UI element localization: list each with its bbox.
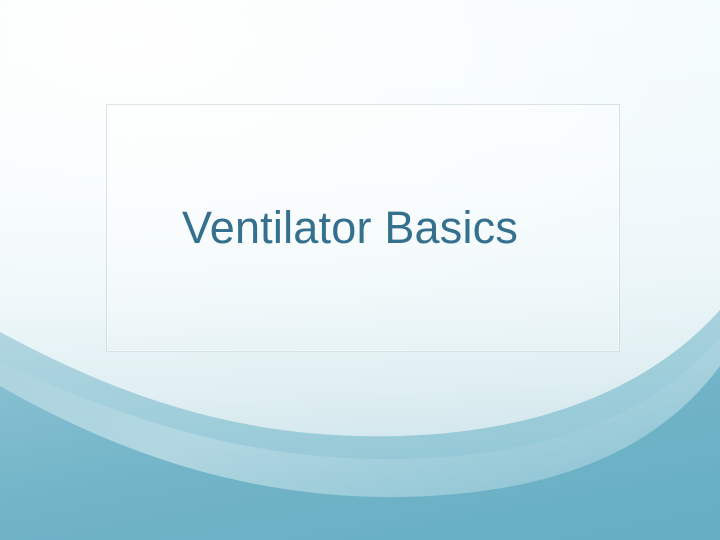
page-title: Ventilator Basics [107, 203, 518, 253]
title-content-box: Ventilator Basics [106, 104, 620, 352]
slide-canvas: Ventilator Basics [0, 0, 720, 540]
